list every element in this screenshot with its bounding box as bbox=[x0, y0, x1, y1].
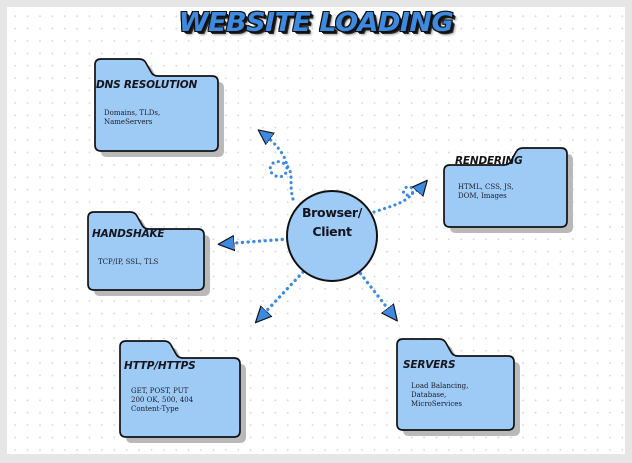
servers-title: SERVERS bbox=[403, 359, 455, 371]
page-title: WEBSITE LOADING bbox=[0, 8, 632, 38]
rendering-body: HTML, CSS, JS, DOM, Images bbox=[458, 183, 514, 201]
node-handshake[interactable] bbox=[88, 212, 210, 296]
page-title-text: WEBSITE LOADING bbox=[179, 8, 453, 38]
servers-body: Load Balancing, Database, MicroServices bbox=[411, 382, 468, 410]
handshake-folder-shape[interactable] bbox=[88, 212, 204, 290]
browser-client-line1: Browser/ bbox=[290, 203, 374, 222]
handshake-title: HANDSHAKE bbox=[92, 228, 164, 240]
diagram-canvas: WEBSITE LOADING bbox=[0, 0, 632, 463]
rendering-title: RENDERING bbox=[455, 155, 523, 167]
browser-client-label: Browser/ Client bbox=[290, 203, 374, 242]
handshake-body: TCP/IP, SSL, TLS bbox=[98, 258, 158, 267]
browser-client-line2: Client bbox=[290, 222, 374, 241]
http-https-title: HTTP/HTTPS bbox=[124, 360, 196, 372]
dns-resolution-body: Domains, TLDs, NameServers bbox=[104, 109, 160, 127]
dns-folder-shape[interactable] bbox=[95, 59, 218, 151]
http-https-body: GET, POST, PUT 200 OK, 500, 404 Content-… bbox=[131, 387, 193, 415]
dns-resolution-title: DNS RESOLUTION bbox=[96, 79, 197, 91]
node-dns-resolution[interactable] bbox=[95, 59, 224, 157]
